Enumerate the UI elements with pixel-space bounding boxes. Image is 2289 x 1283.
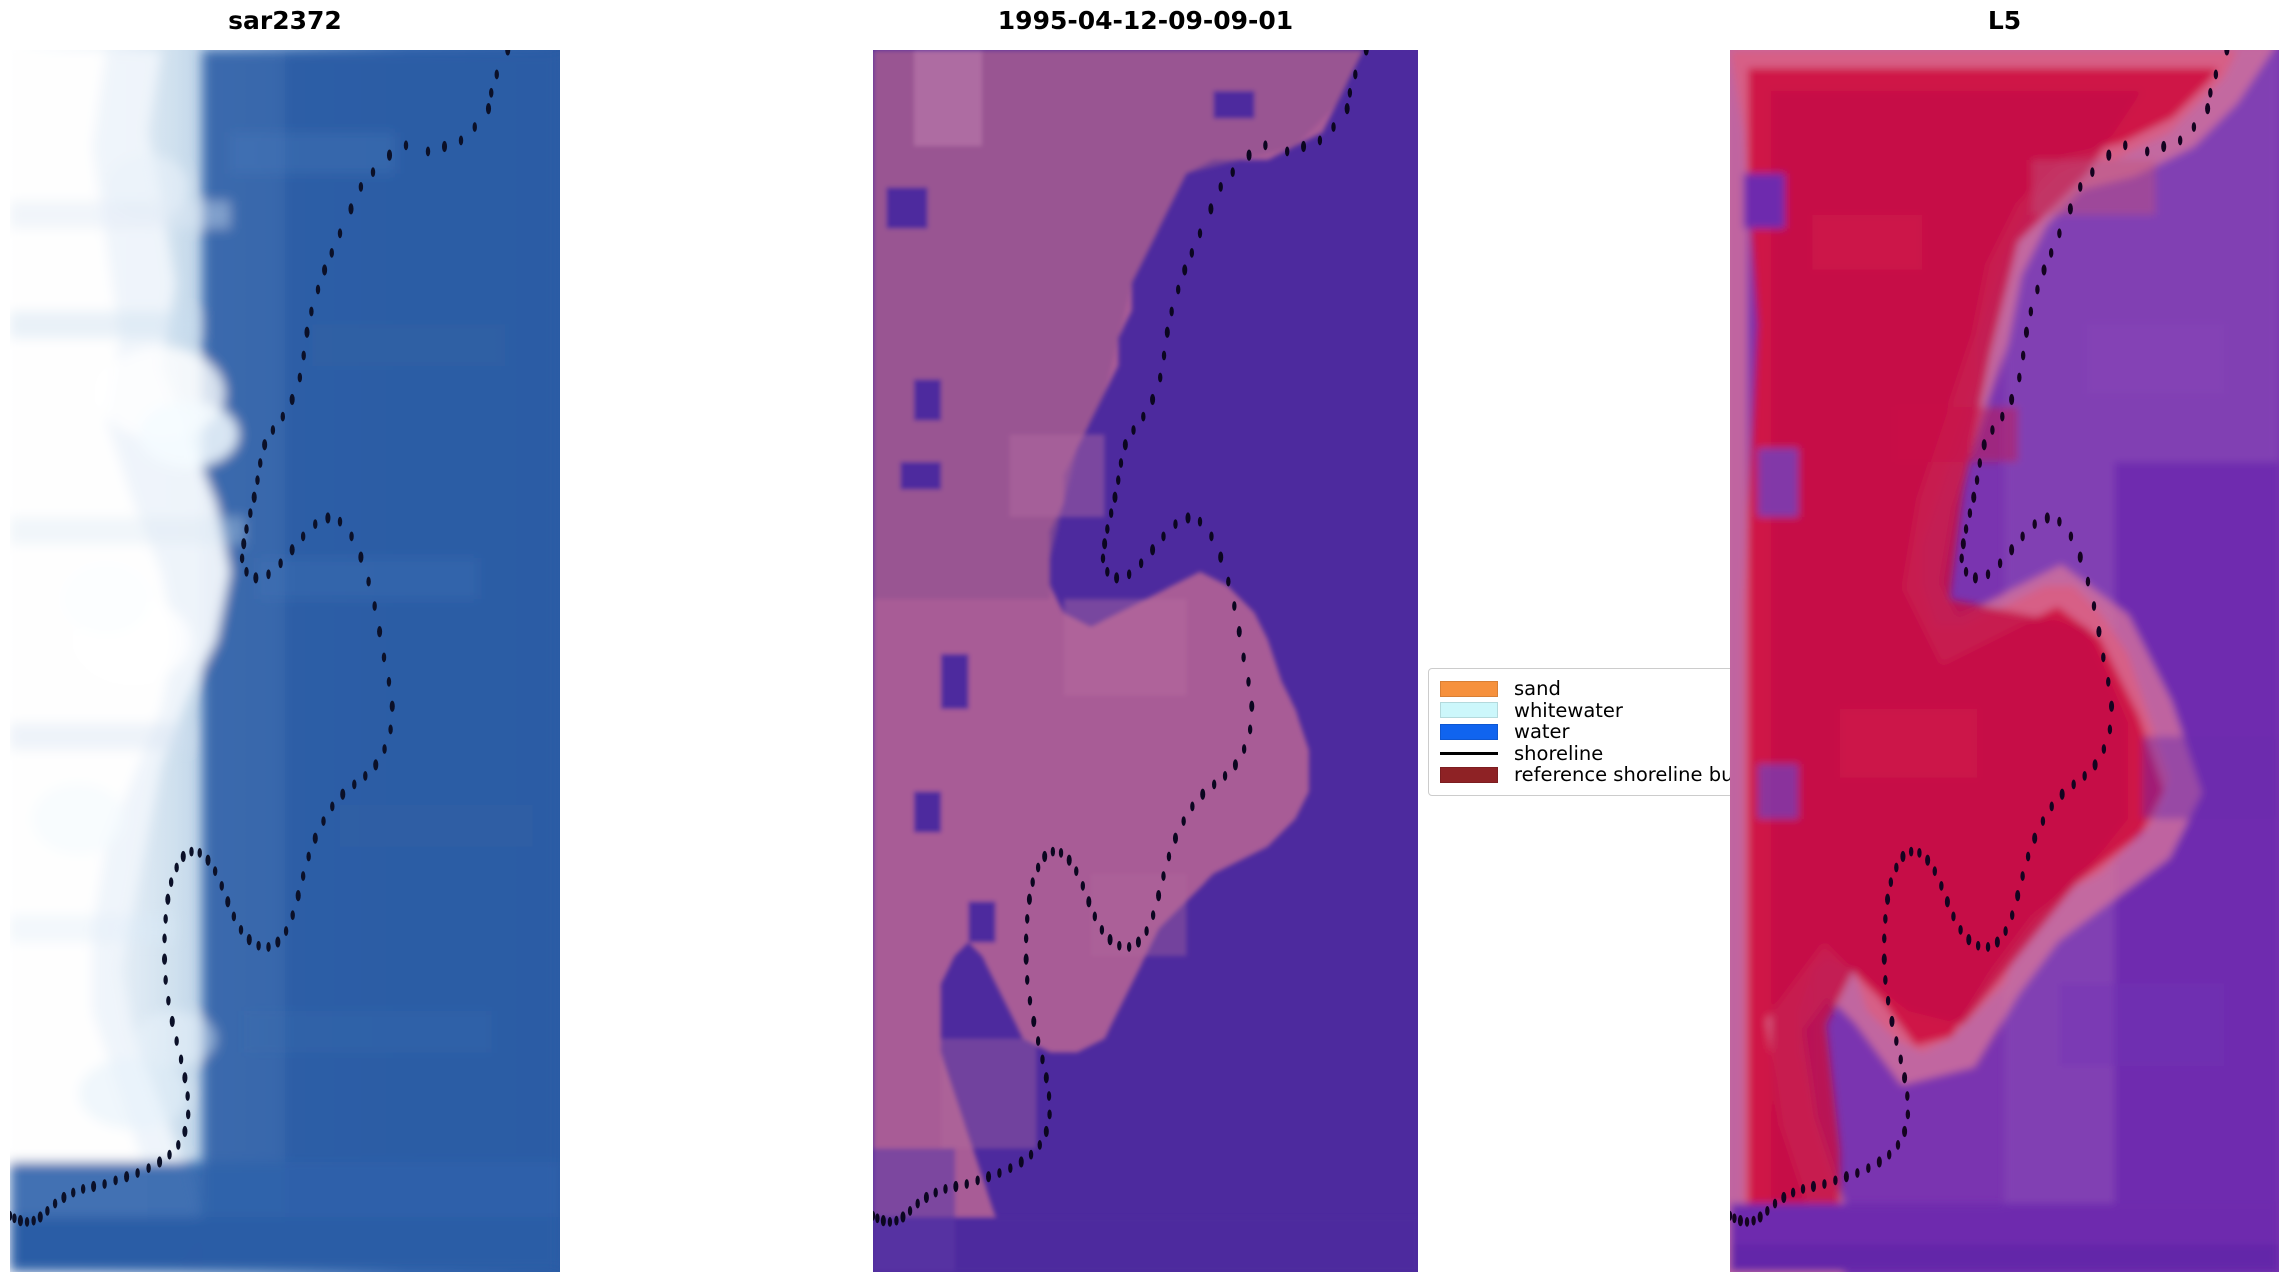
water-color-swatch bbox=[1440, 724, 1498, 740]
shoreline-dots bbox=[873, 50, 1369, 1227]
panel-title-rgb: 1995-04-12-09-09-01 bbox=[873, 8, 1418, 33]
reference-shoreline-buffer-color-swatch bbox=[1440, 767, 1498, 783]
shoreline-overlay-sar bbox=[10, 50, 560, 1272]
image-panel-l5[interactable] bbox=[1730, 50, 2279, 1272]
shoreline-line-swatch bbox=[1440, 752, 1498, 755]
legend-item-reference-shoreline-buffer[interactable]: reference shoreline buffer bbox=[1440, 764, 1730, 785]
legend-label-sand: sand bbox=[1514, 679, 1561, 698]
shoreline-dots bbox=[1730, 50, 2229, 1227]
shoreline-overlay-rgb bbox=[873, 50, 1418, 1272]
legend-item-water[interactable]: water bbox=[1440, 721, 1730, 742]
legend-box: sand whitewater water shoreline referenc… bbox=[1428, 668, 1730, 796]
image-panel-sar[interactable] bbox=[10, 50, 560, 1272]
image-panel-rgb[interactable] bbox=[873, 50, 1418, 1272]
legend-label-whitewater: whitewater bbox=[1514, 701, 1623, 720]
panel-title-sar: sar2372 bbox=[10, 8, 560, 33]
legend-label-water: water bbox=[1514, 722, 1570, 741]
shoreline-overlay-l5 bbox=[1730, 50, 2279, 1272]
whitewater-color-swatch bbox=[1440, 702, 1498, 718]
shoreline-dots bbox=[10, 50, 510, 1227]
sand-color-swatch bbox=[1440, 681, 1498, 697]
legend-label-reference-shoreline-buffer: reference shoreline buffer bbox=[1514, 765, 1730, 784]
legend-label-shoreline: shoreline bbox=[1514, 744, 1603, 763]
legend-item-whitewater[interactable]: whitewater bbox=[1440, 700, 1730, 721]
legend-item-sand[interactable]: sand bbox=[1440, 678, 1730, 699]
legend-item-shoreline[interactable]: shoreline bbox=[1440, 743, 1730, 764]
legend-clip-region: sand whitewater water shoreline referenc… bbox=[1428, 668, 1730, 824]
figure-canvas: sar2372 1995-04-12-09-09-01 L5 bbox=[0, 0, 2289, 1283]
panel-title-l5: L5 bbox=[1730, 8, 2279, 33]
